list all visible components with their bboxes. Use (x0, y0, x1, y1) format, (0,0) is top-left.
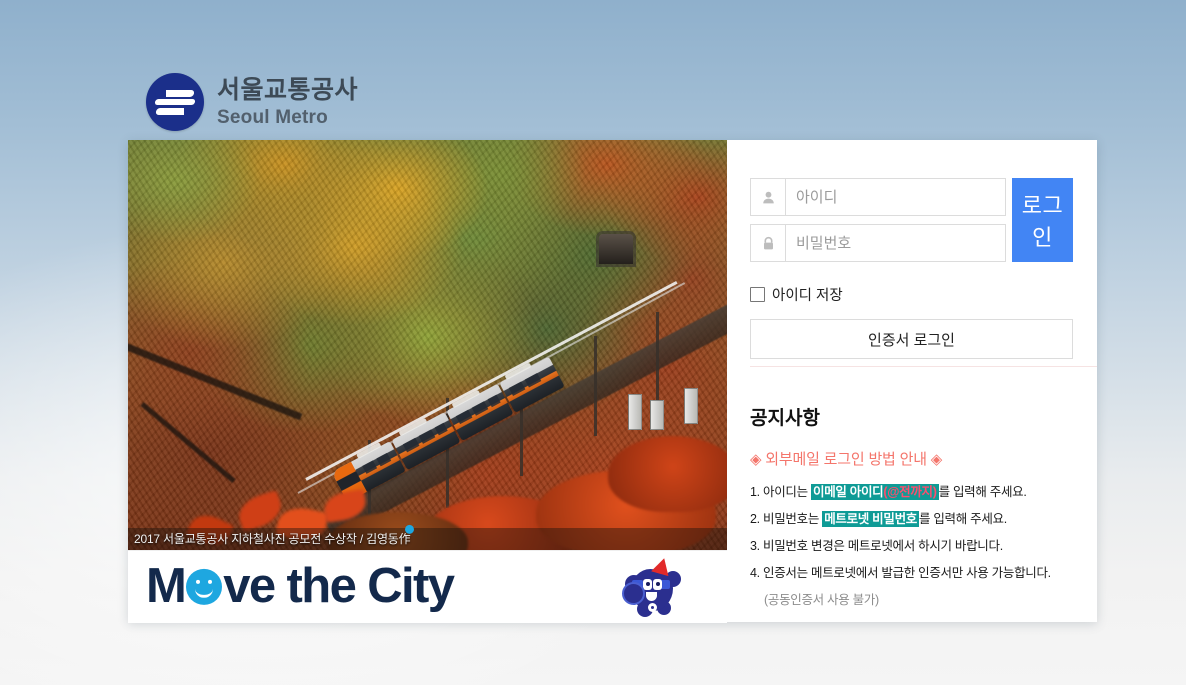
notice-item-pre: 아이디는 (763, 485, 811, 499)
notice-item-highlight: 메트로넷 비밀번호 (822, 511, 919, 527)
notice-item: 4. 인증서는 메트로넷에서 발급한 인증서만 사용 가능합니다. (750, 562, 1079, 581)
remember-id-label: 아이디 저장 (772, 284, 843, 305)
password-input[interactable] (785, 224, 1006, 262)
contest-photo: 2017 서울교통공사 지하철사진 공모전 수상작 / 김영동作 (128, 140, 727, 550)
notice-subnote: (공동인증서 사용 불가) (764, 589, 1079, 608)
notice-headline: ◈ 외부메일 로그인 방법 안내 ◈ (750, 448, 1079, 469)
tunnel-portal (599, 234, 633, 264)
notice-item-num: 3. (750, 539, 760, 553)
id-field-group (750, 178, 1006, 216)
main-board: 2017 서울교통공사 지하철사진 공모전 수상작 / 김영동作 M ve th… (128, 140, 1097, 622)
certificate-login-button[interactable]: 인증서 로그인 (750, 319, 1073, 359)
login-page: 서울교통공사 Seoul Metro (0, 0, 1186, 685)
login-button[interactable]: 로그인 (1012, 178, 1073, 262)
remember-id-checkbox[interactable] (750, 287, 765, 302)
notice-item-post: 를 입력해 주세요. (939, 485, 1027, 499)
section-divider (750, 366, 1097, 367)
remember-id-row[interactable]: 아이디 저장 (750, 284, 1073, 305)
password-field-group (750, 224, 1006, 262)
notice-section: 공지사항 ◈ 외부메일 로그인 방법 안내 ◈ 1. 아이디는 이메일 아이디(… (727, 403, 1097, 608)
notice-item-highlight: 이메일 아이디(@전까지) (811, 484, 939, 500)
notice-item-num: 1. (750, 485, 760, 499)
metro-mascot-icon (621, 557, 683, 619)
user-icon (750, 178, 785, 216)
notice-title: 공지사항 (750, 403, 1079, 430)
lock-icon (750, 224, 785, 262)
notice-item: 3. 비밀번호 변경은 메트로넷에서 하시기 바랍니다. (750, 535, 1079, 554)
notice-item-pre: 비밀번호는 (763, 512, 822, 526)
wordmark-ity: ity (401, 559, 453, 613)
notice-item-num: 2. (750, 512, 760, 526)
notice-item-pre: 인증서는 메트로넷에서 발급한 인증서만 사용 가능합니다. (763, 566, 1051, 580)
i-dot-icon (405, 525, 414, 534)
left-column: 2017 서울교통공사 지하철사진 공모전 수상작 / 김영동作 M ve th… (128, 140, 727, 622)
brand-header: 서울교통공사 Seoul Metro (146, 73, 358, 131)
highlight-main: 이메일 아이디 (813, 485, 883, 499)
seoul-metro-s-logo-icon (146, 73, 204, 131)
highlight-sub: (@전까지) (883, 485, 936, 499)
move-the-city-banner: M ve the C ity (128, 550, 727, 623)
brand-name-en: Seoul Metro (217, 108, 358, 127)
wordmark-ve-the-c: ve the C (223, 558, 401, 614)
notice-item-pre: 비밀번호 변경은 메트로넷에서 하시기 바랍니다. (763, 539, 1003, 553)
credentials-row: 로그인 (750, 178, 1073, 270)
move-the-city-wordmark: M ve the C ity (146, 558, 453, 614)
highlight-main: 메트로넷 비밀번호 (824, 512, 917, 526)
notice-item: 2. 비밀번호는 메트로넷 비밀번호를 입력해 주세요. (750, 508, 1079, 527)
photo-caption: 2017 서울교통공사 지하철사진 공모전 수상작 / 김영동作 (134, 530, 410, 547)
balloon-icon (622, 582, 645, 605)
smiley-o-icon (186, 569, 222, 605)
fields-stack (750, 178, 1006, 270)
right-column: 로그인 아이디 저장 인증서 로그인 공지사항 ◈ 외부메일 로그인 방법 안내… (727, 140, 1097, 622)
notice-item-post: 를 입력해 주세요. (919, 512, 1007, 526)
brand-text: 서울교통공사 Seoul Metro (217, 78, 358, 127)
notice-item-num: 4. (750, 566, 760, 580)
wordmark-m: M (146, 558, 185, 614)
brand-name-ko: 서울교통공사 (217, 78, 358, 103)
login-form: 로그인 아이디 저장 인증서 로그인 (727, 140, 1097, 359)
notice-item: 1. 아이디는 이메일 아이디(@전까지)를 입력해 주세요. (750, 481, 1079, 500)
id-input[interactable] (785, 178, 1006, 216)
